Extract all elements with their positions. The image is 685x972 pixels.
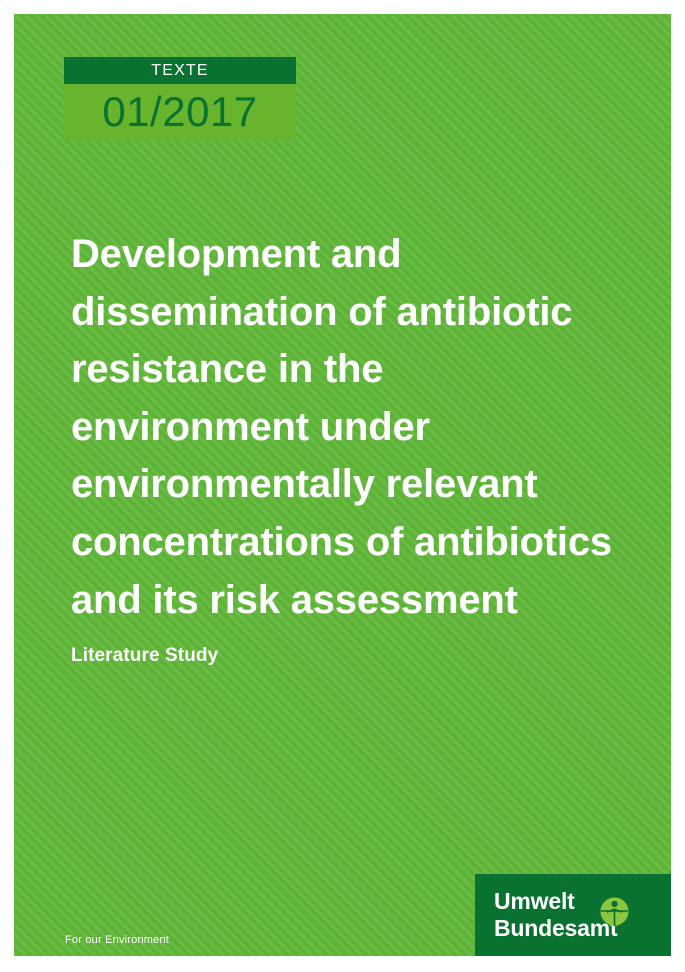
document-cover-page: TEXTE 01/2017 Development and disseminat… bbox=[0, 0, 685, 972]
series-badge: TEXTE 01/2017 bbox=[64, 57, 296, 140]
page-subtitle: Literature Study bbox=[71, 645, 631, 667]
uba-human-figure-circle-icon bbox=[600, 897, 629, 926]
issue-block: 01/2017 bbox=[64, 84, 296, 140]
publisher-name: Umwelt Bundesamt bbox=[494, 888, 617, 941]
publisher-logo: Umwelt Bundesamt bbox=[475, 874, 671, 956]
cover-background: TEXTE 01/2017 Development and disseminat… bbox=[14, 14, 671, 956]
publisher-name-line1: Umwelt bbox=[494, 888, 617, 915]
tagline: For our Environment bbox=[65, 934, 169, 946]
issue-number: 01/2017 bbox=[102, 91, 257, 133]
page-title: Development and dissemination of antibio… bbox=[71, 226, 631, 629]
series-label: TEXTE bbox=[64, 57, 296, 84]
logo-inner: Umwelt Bundesamt bbox=[475, 888, 617, 941]
publisher-name-line2: Bundesamt bbox=[494, 915, 617, 942]
title-area: Development and dissemination of antibio… bbox=[71, 226, 631, 667]
